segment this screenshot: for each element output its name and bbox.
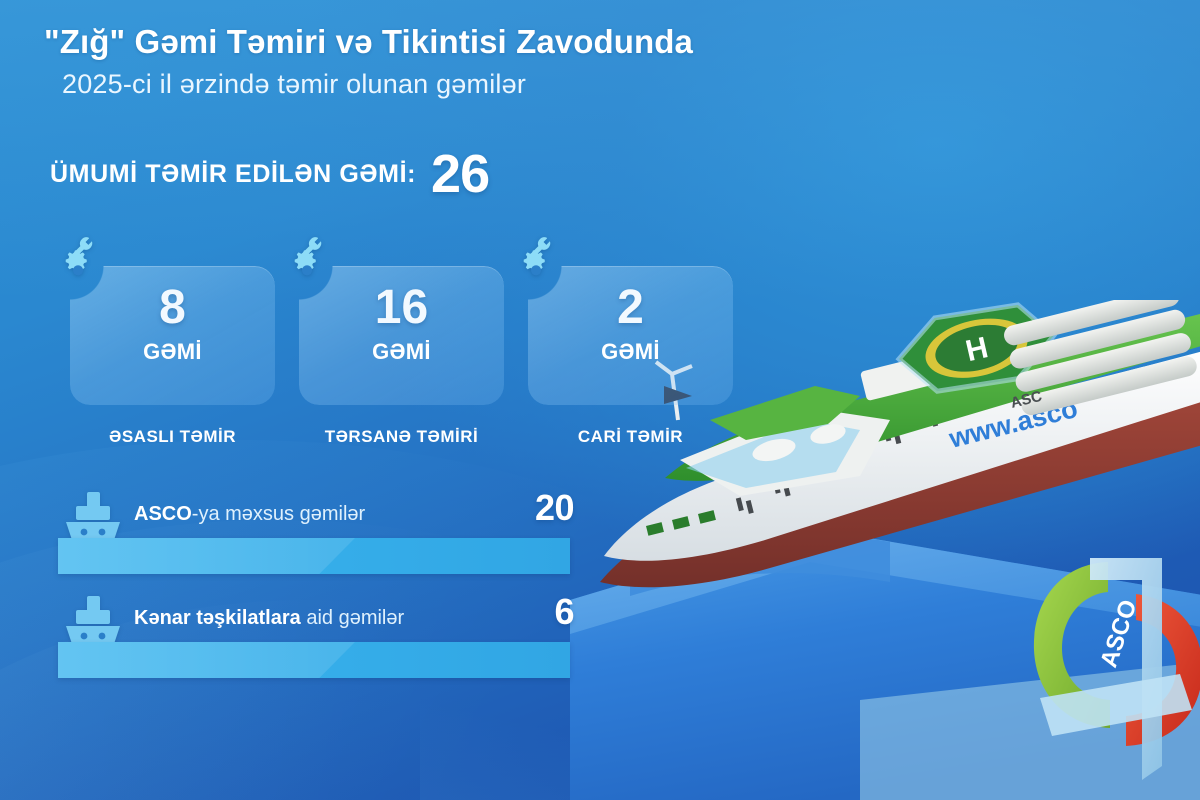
stat-card-unit: GƏMİ bbox=[143, 339, 202, 365]
bar-row-label-strong: ASCO bbox=[134, 503, 192, 525]
bar-row-value: 20 bbox=[535, 490, 574, 526]
stat-card-value: 16 bbox=[375, 284, 428, 332]
bar-row-label-rest: -ya məxsus gəmilər bbox=[192, 503, 365, 525]
bar-row-label-rest: aid gəmilər bbox=[301, 607, 404, 629]
stat-card-label: ƏSASLI TƏMİR bbox=[70, 427, 275, 447]
stat-card-unit: GƏMİ bbox=[601, 339, 660, 365]
bar-row-label: Kənar təşkilatlara aid gəmilər bbox=[134, 607, 404, 630]
stat-card-group: 8 GƏMİ ƏSASLI TƏMİR 16 GƏMİ bbox=[70, 266, 733, 447]
bar-row-label: ASCO-ya məxsus gəmilər bbox=[134, 503, 365, 526]
bar-row-value: 6 bbox=[554, 594, 574, 630]
bar-track bbox=[58, 538, 570, 574]
stat-card-label: TƏRSANƏ TƏMİRİ bbox=[299, 427, 504, 447]
gear-wrench-icon bbox=[291, 234, 345, 288]
stat-card-major-repair: 8 GƏMİ ƏSASLI TƏMİR bbox=[70, 266, 275, 447]
stat-card-shipyard-repair: 16 GƏMİ TƏRSANƏ TƏMİRİ bbox=[299, 266, 504, 447]
bar-row-external-ships: Kənar təşkilatlara aid gəmilər 6 bbox=[56, 586, 576, 690]
bar-track bbox=[58, 642, 570, 678]
total-repaired-value: 26 bbox=[431, 150, 489, 200]
stat-card-value: 2 bbox=[617, 284, 644, 332]
stat-card-value: 8 bbox=[159, 284, 186, 332]
total-repaired-label: ÜMUMİ TƏMİR EDİLƏN GƏMİ: bbox=[50, 160, 416, 189]
page-subtitle: 2025-ci il ərzində təmir olunan gəmilər bbox=[62, 68, 1004, 100]
stat-card-current-repair: 2 GƏMİ CARİ TƏMİR bbox=[528, 266, 733, 447]
gear-wrench-icon bbox=[62, 234, 116, 288]
gear-wrench-icon bbox=[520, 234, 574, 288]
infographic-canvas: www.asco bbox=[0, 0, 1200, 800]
stat-card-label: CARİ TƏMİR bbox=[528, 427, 733, 447]
bar-row-label-strong: Kənar təşkilatlara bbox=[134, 607, 301, 629]
total-repaired-row: ÜMUMİ TƏMİR EDİLƏN GƏMİ: 26 bbox=[50, 150, 489, 200]
ownership-bar-group: ASCO-ya məxsus gəmilər 20 Kənar təşkilat… bbox=[56, 482, 576, 690]
header-block: "Zığ" Gəmi Təmiri və Tikintisi Zavodunda… bbox=[44, 22, 1004, 101]
page-title: "Zığ" Gəmi Təmiri və Tikintisi Zavodunda bbox=[44, 22, 1004, 62]
stat-card-unit: GƏMİ bbox=[372, 339, 431, 365]
bar-row-asco-ships: ASCO-ya məxsus gəmilər 20 bbox=[56, 482, 576, 586]
